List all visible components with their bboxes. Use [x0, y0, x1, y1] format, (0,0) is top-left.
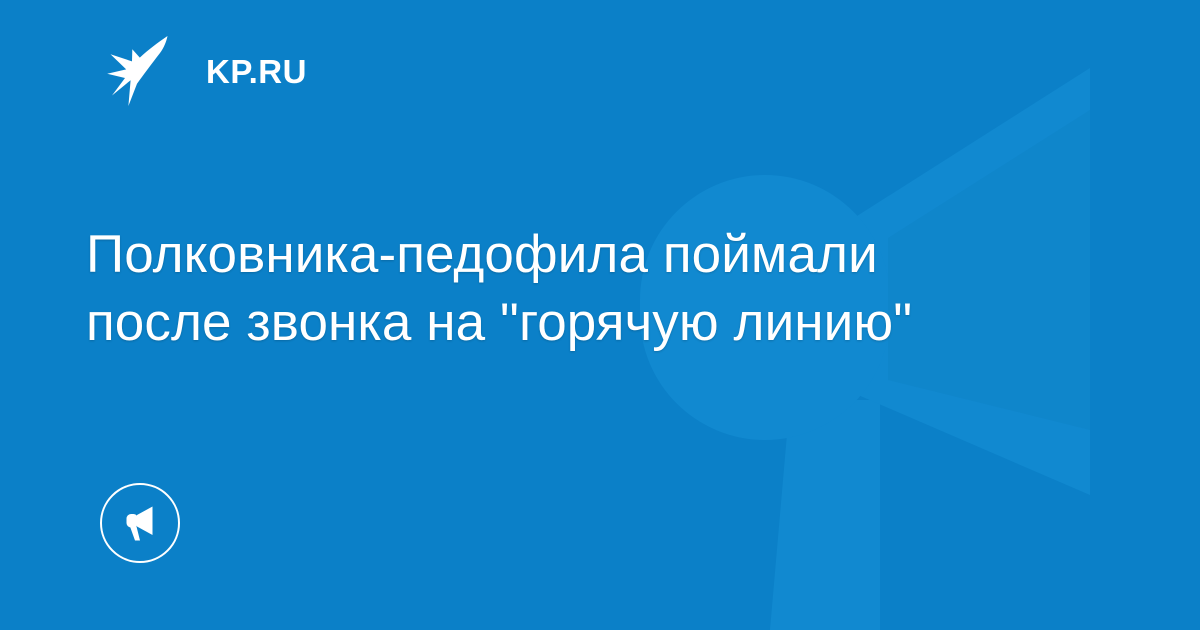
social-share-card: KP.RU Полковника-педофила поймали после … — [0, 0, 1200, 630]
headline-line-2: после звонка на "горячую линию" — [86, 289, 1086, 357]
brand-lockup[interactable]: KP.RU — [104, 32, 307, 110]
megaphone-badge[interactable] — [100, 483, 180, 563]
swallow-bird-logo-icon — [104, 34, 172, 108]
megaphone-icon — [119, 502, 161, 544]
headline-line-1: Полковника-педофила поймали — [86, 221, 1086, 289]
headline: Полковника-педофила поймали после звонка… — [86, 221, 1086, 357]
brand-name-label: KP.RU — [206, 55, 307, 88]
